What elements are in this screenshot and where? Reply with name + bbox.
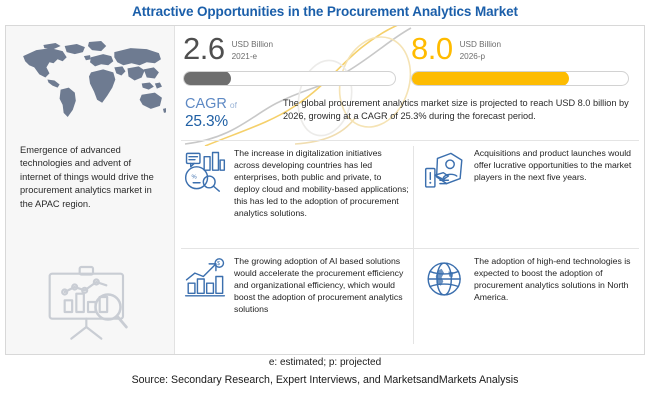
quadrant-ai-adoption-text: The growing adoption of AI based solutio… <box>234 256 409 316</box>
divider-horizontal-mid <box>181 248 639 249</box>
stat-value-2021: 2.6 <box>183 32 225 65</box>
stat-year-2021: 2021-e <box>232 51 273 63</box>
footnote: e: estimated; p: projected <box>0 357 650 368</box>
progress-bar-2026-fill <box>411 71 569 86</box>
svg-text:%: % <box>192 175 197 181</box>
right-content-area: 2.6 USD Billion 2021-e 8.0 USD Billion 2… <box>175 26 645 354</box>
quadrant-digitalization-text: The increase in digitalization initiativ… <box>234 148 409 219</box>
handshake-documents-icon <box>423 150 467 192</box>
cagr-of-label: of <box>230 100 237 110</box>
stat-year-2026: 2026-p <box>460 51 501 63</box>
progress-bar-2026 <box>411 71 629 86</box>
globe-icon <box>423 258 467 300</box>
progress-bar-2021 <box>183 71 396 86</box>
world-map-icon <box>14 34 166 126</box>
bar-chart-growth-icon: $ <box>183 258 227 300</box>
digital-analytics-icon: % <box>183 150 227 192</box>
stat-2026: 8.0 USD Billion 2026-p <box>411 32 501 65</box>
cagr-row: CAGRof 25.3% The global procurement anal… <box>175 94 645 137</box>
quadrant-acquisitions-text: Acquisitions and product launches would … <box>474 148 639 184</box>
stat-unit-2026: USD Billion <box>460 39 501 51</box>
analytics-board-magnifier-icon <box>36 262 140 342</box>
page-title: Attractive Opportunities in the Procurem… <box>0 4 650 19</box>
stat-unit-2021: USD Billion <box>232 39 273 51</box>
divider-vertical <box>413 146 414 344</box>
cagr-block: CAGRof 25.3% <box>185 96 277 130</box>
svg-text:$: $ <box>217 261 220 267</box>
stat-value-2026: 8.0 <box>411 32 453 65</box>
cagr-label-line: CAGRof <box>185 96 277 113</box>
stat-2021: 2.6 USD Billion 2021-e <box>183 32 273 65</box>
left-panel-insight: Emergence of advanced technologies and a… <box>20 144 162 211</box>
cagr-label: CAGR <box>185 96 227 112</box>
infographic-root: Attractive Opportunities in the Procurem… <box>0 0 650 400</box>
market-summary-text: The global procurement analytics market … <box>283 97 635 122</box>
quadrant-acquisitions: Acquisitions and product launches would … <box>423 148 639 192</box>
stat-labels-2021: USD Billion 2021-e <box>232 32 273 62</box>
quadrant-north-america-text: The adoption of high-end technologies is… <box>474 256 639 304</box>
quadrant-digitalization: % The increase in digitalization initiat… <box>183 148 409 219</box>
quadrant-north-america: The adoption of high-end technologies is… <box>423 256 639 304</box>
left-panel: Emergence of advanced technologies and a… <box>6 26 175 354</box>
infographic-card: Emergence of advanced technologies and a… <box>5 25 645 355</box>
stat-labels-2026: USD Billion 2026-p <box>460 32 501 62</box>
divider-horizontal-top <box>181 140 639 141</box>
source-line: Source: Secondary Research, Expert Inter… <box>0 374 650 386</box>
stats-row: 2.6 USD Billion 2021-e 8.0 USD Billion 2… <box>175 26 645 94</box>
progress-bar-2021-fill <box>183 71 231 86</box>
quadrant-ai-adoption: $ The growing adoption of AI based solut… <box>183 256 409 316</box>
cagr-value: 25.3% <box>185 113 277 130</box>
